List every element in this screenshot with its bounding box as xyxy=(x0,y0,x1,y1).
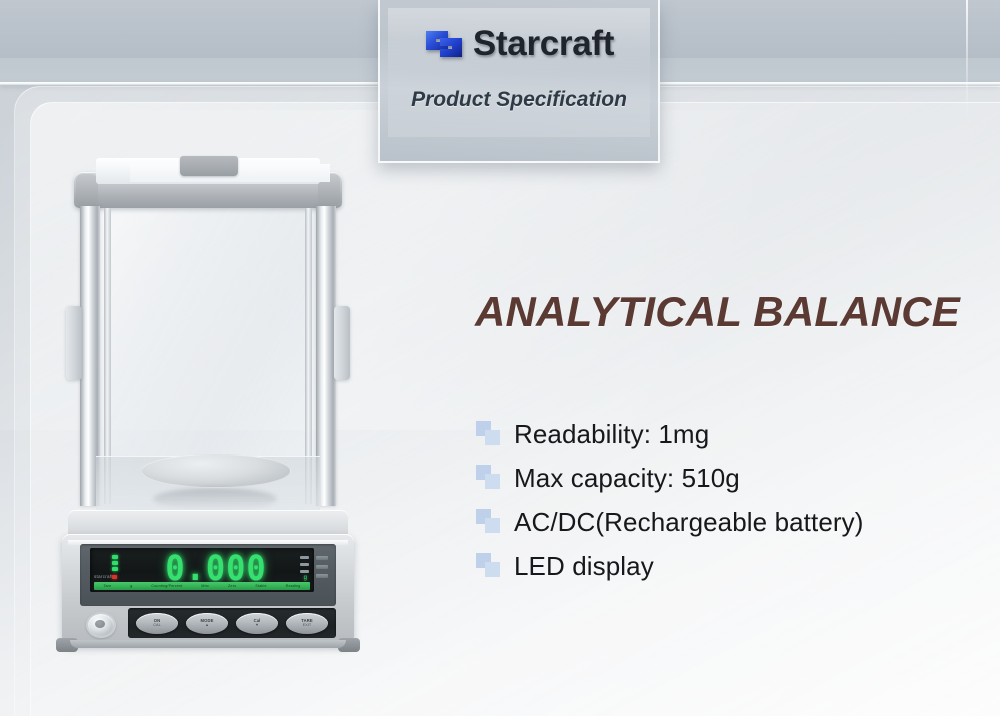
bullet-squares-icon xyxy=(476,465,502,491)
key-label-line2: EXIT xyxy=(303,624,311,628)
strip-label: Zero xyxy=(228,584,236,588)
key-label-line2: CAL xyxy=(153,624,160,628)
bubble-level-bubble xyxy=(95,620,105,628)
balance-base-lip xyxy=(70,640,346,648)
starcraft-s-blocks-logo-icon xyxy=(424,25,464,63)
key-on-cal[interactable]: ON CAL xyxy=(136,613,178,634)
display-signal-bars-icon xyxy=(112,555,118,573)
display-reading: 0.000 xyxy=(152,550,280,586)
balance-keypad: ON CAL MODE ▲ Cal ▼ TARE EXIT xyxy=(128,608,336,638)
strip-label: Reading xyxy=(286,584,301,588)
display-unit-indicators-icon xyxy=(300,556,309,577)
header-subtitle: Product Specification xyxy=(380,88,658,112)
bullet-squares-icon xyxy=(476,421,502,447)
key-mode-up[interactable]: MODE ▲ xyxy=(186,613,228,634)
glass-draft-shield xyxy=(74,156,342,516)
display-unit-label: g xyxy=(304,575,307,581)
spec-label: Readability: 1mg xyxy=(514,419,709,450)
bullet-squares-icon xyxy=(476,553,502,579)
list-item: LED display xyxy=(476,544,976,588)
spec-label: AC/DC(Rechargeable battery) xyxy=(514,507,864,538)
brand-header-card: Starcraft Product Specification xyxy=(378,0,660,163)
strip-label: Stable xyxy=(255,584,266,588)
list-item: Readability: 1mg xyxy=(476,412,976,456)
strip-label: Mtrc xyxy=(201,584,209,588)
bubble-level-indicator xyxy=(86,612,116,638)
top-frame-corner-left xyxy=(76,174,98,204)
analytical-balance-product-image: starcraft 0.000 g Tare g Counting/Percen… xyxy=(58,140,358,650)
draft-shield-inner-edge xyxy=(108,196,308,498)
spec-label: LED display xyxy=(514,551,654,582)
display-brand-mark: starcraft xyxy=(94,574,113,579)
weighing-pan xyxy=(141,454,289,498)
led-display-panel: starcraft 0.000 g Tare g Counting/Percen… xyxy=(90,548,314,592)
page-title: ANALYTICAL BALANCE xyxy=(475,288,960,336)
key-label-line2: ▼ xyxy=(255,624,259,628)
strip-label: Counting/Percent xyxy=(151,584,182,588)
list-item: Max capacity: 510g xyxy=(476,456,976,500)
weighing-pan-surface xyxy=(141,454,291,488)
product-spec-banner: Starcraft Product Specification ANALYTIC… xyxy=(0,0,1000,716)
side-door-handle-right[interactable] xyxy=(334,306,350,380)
face-indicator-leds-icon xyxy=(316,556,328,583)
top-lid-handle[interactable] xyxy=(180,156,238,176)
display-status-strip: Tare g Counting/Percent Mtrc Zero Stable… xyxy=(94,582,310,590)
key-tare-exit[interactable]: TARE EXIT xyxy=(286,613,328,634)
key-cal-down[interactable]: Cal ▼ xyxy=(236,613,278,634)
list-item: AC/DC(Rechargeable battery) xyxy=(476,500,976,544)
spec-label: Max capacity: 510g xyxy=(514,463,740,494)
strip-label: g xyxy=(130,584,132,588)
display-power-led-icon xyxy=(112,575,117,579)
bullet-squares-icon xyxy=(476,509,502,535)
spec-list: Readability: 1mg Max capacity: 510g AC/D… xyxy=(476,412,976,588)
weighing-pan-reflection xyxy=(153,488,277,510)
brand-logo-row: Starcraft xyxy=(380,18,658,70)
strip-label: Tare xyxy=(103,584,111,588)
side-door-handle-left[interactable] xyxy=(66,306,82,380)
key-label-line2: ▲ xyxy=(205,624,209,628)
balance-control-face: starcraft 0.000 g Tare g Counting/Percen… xyxy=(80,544,336,606)
brand-name: Starcraft xyxy=(473,24,614,64)
